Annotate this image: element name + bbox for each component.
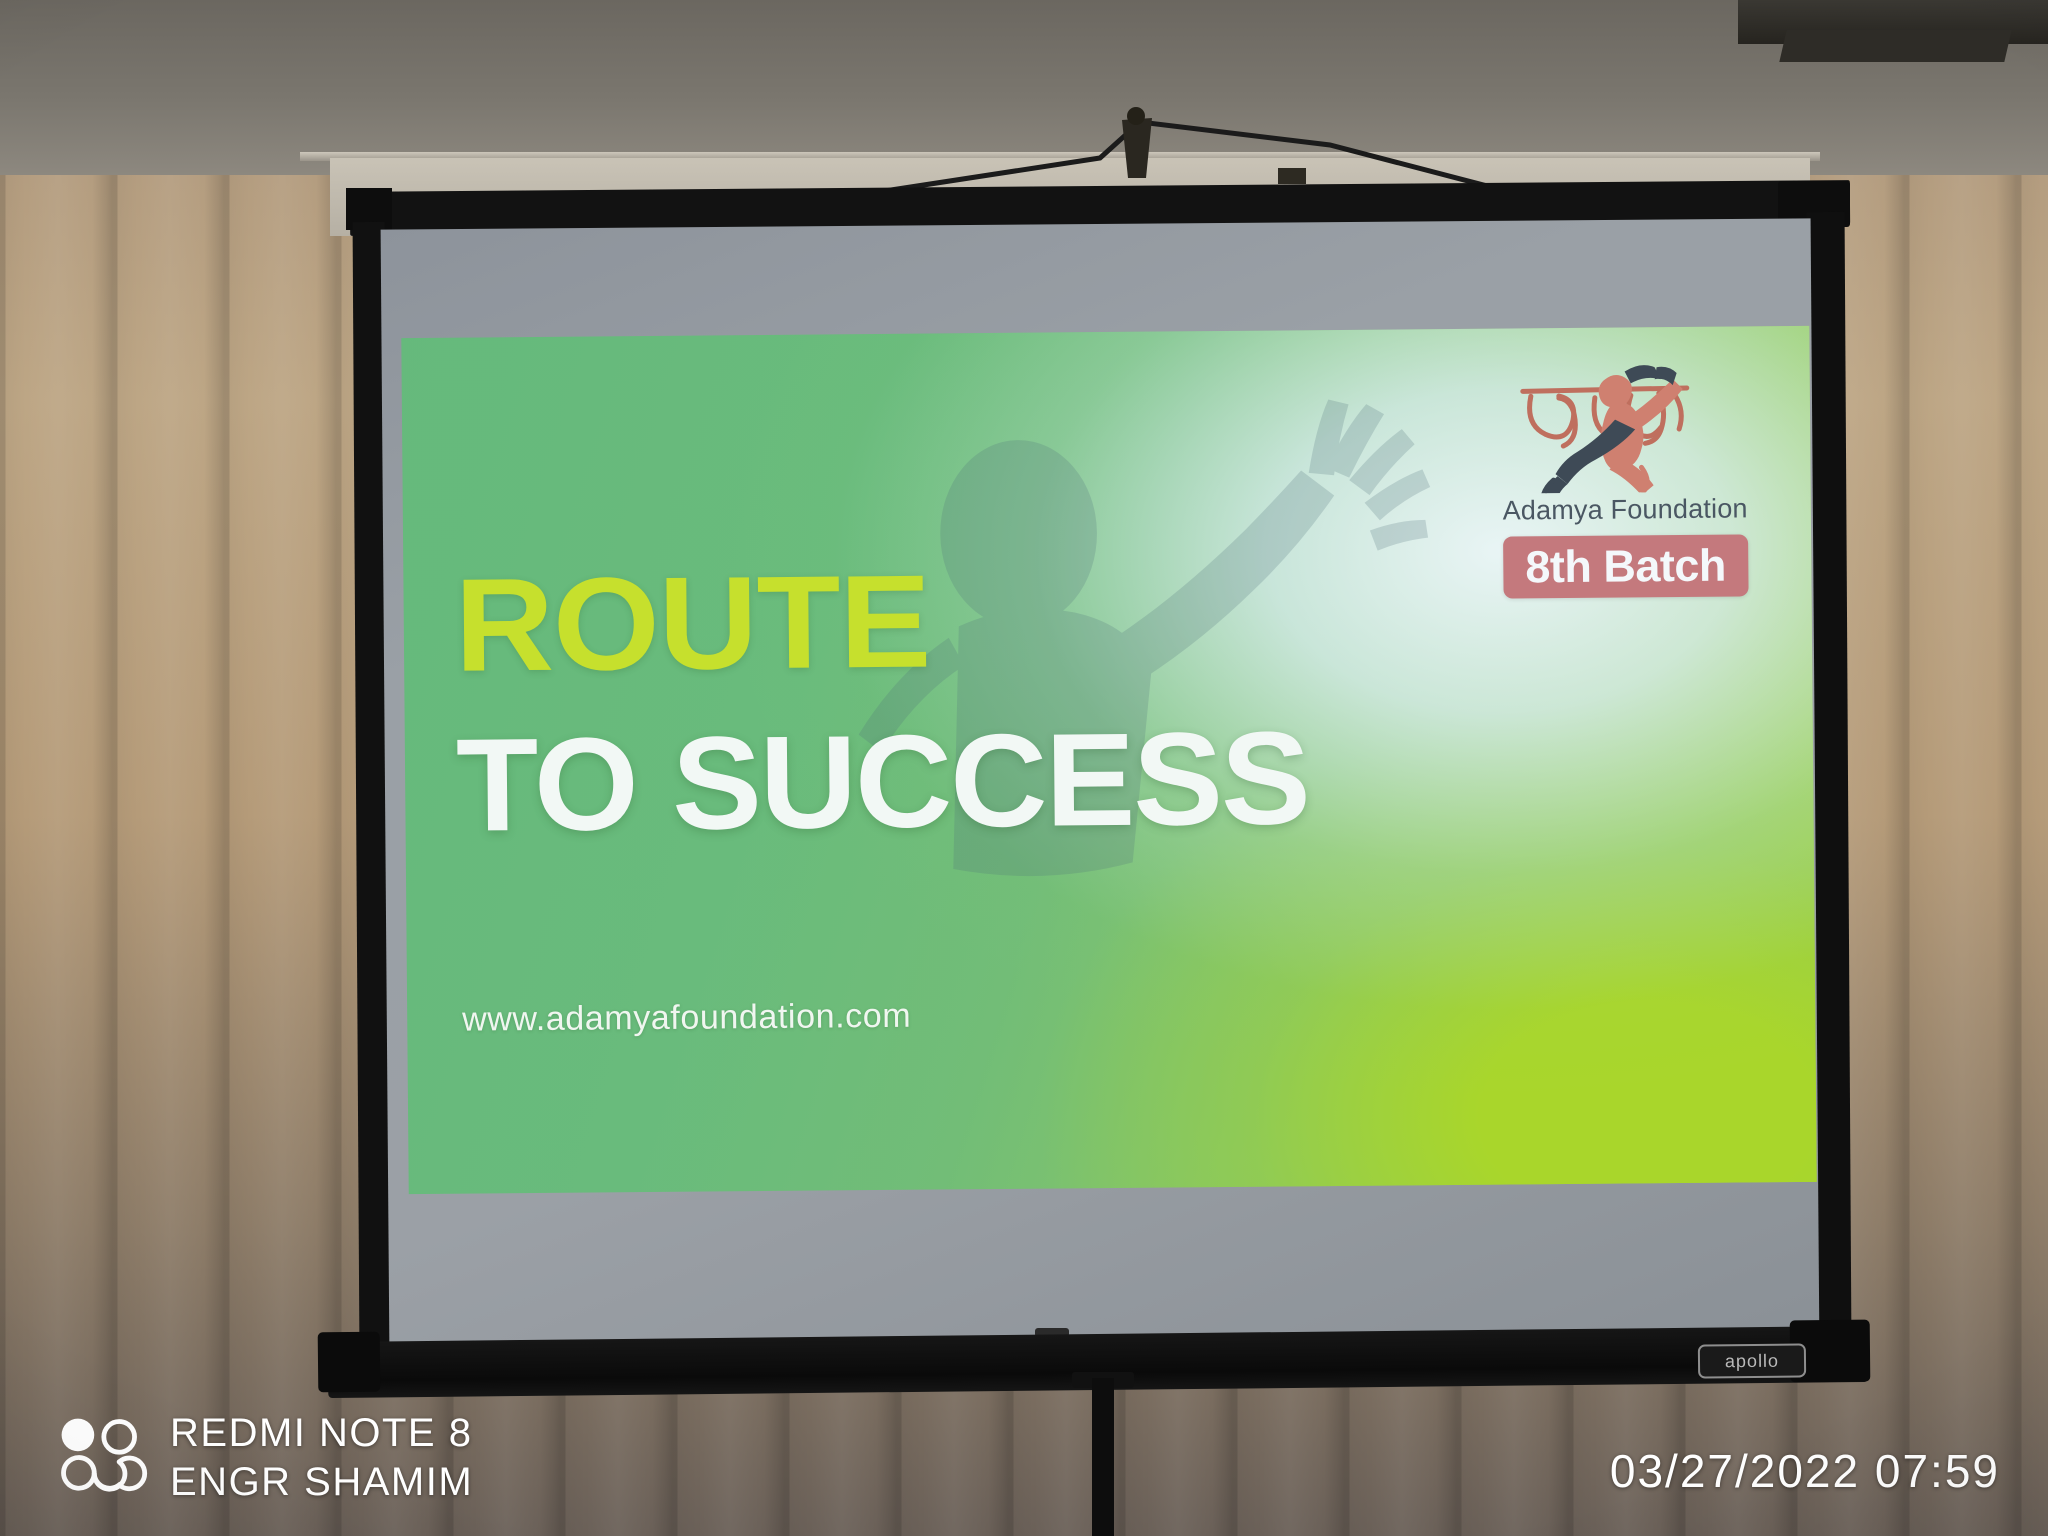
slide-title-line2: TO SUCCESS <box>455 717 1308 846</box>
apollo-brand-label: apollo <box>1698 1343 1806 1378</box>
slide-title-line1: ROUTE <box>454 560 930 686</box>
adamya-foundation-logo: Adamya Foundation 8th Batch <box>1489 356 1761 598</box>
logo-organisation-name: Adamya Foundation <box>1490 493 1760 526</box>
tripod-pole <box>1092 1378 1114 1536</box>
camera-watermark: REDMI NOTE 8 ENGR SHAMIM <box>52 1410 473 1506</box>
watermark-author: ENGR SHAMIM <box>170 1460 473 1505</box>
presentation-slide: ROUTE TO SUCCESS www.adamyafoundation.co… <box>401 326 1816 1194</box>
dual-camera-icon <box>52 1410 148 1506</box>
bengali-script-runner-icon <box>1509 356 1740 493</box>
batch-badge: 8th Batch <box>1503 534 1749 598</box>
photo-scene: apollo ROUTE TO SUCCESS www.adamyafounda… <box>0 0 2048 1536</box>
watermark-text: REDMI NOTE 8 ENGR SHAMIM <box>170 1411 473 1505</box>
slide-website-url: www.adamyafoundation.com <box>462 997 911 1040</box>
watermark-device: REDMI NOTE 8 <box>170 1411 473 1456</box>
screen-bottom-cap-left <box>318 1332 381 1393</box>
logo-mark <box>1509 356 1740 493</box>
photo-timestamp: 03/27/2022 07:59 <box>1610 1444 2000 1498</box>
